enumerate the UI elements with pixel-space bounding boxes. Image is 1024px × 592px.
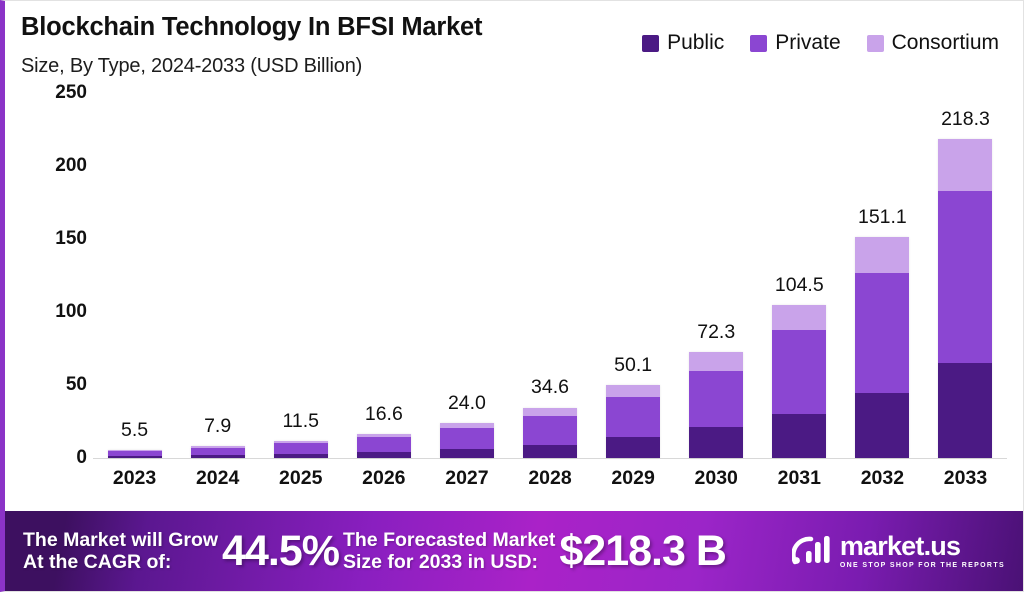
bar-segment-public[interactable] [523, 445, 577, 458]
bar-total-label: 5.5 [93, 419, 176, 442]
legend-label: Public [667, 31, 724, 55]
x-axis-tick: 2025 [259, 467, 342, 490]
bar-column[interactable]: 151.1 [841, 93, 924, 458]
bar-total-label: 50.1 [592, 354, 675, 377]
bar-column[interactable]: 24.0 [425, 93, 508, 458]
x-axis-tick: 2031 [758, 467, 841, 490]
bar-column[interactable]: 218.3 [924, 93, 1007, 458]
bar-segment-private[interactable] [689, 371, 743, 428]
bar-total-label: 11.5 [259, 410, 342, 433]
bar-series-row: 5.57.911.516.624.034.650.172.3104.5151.1… [93, 93, 1007, 458]
bar-segment-public[interactable] [357, 452, 411, 458]
bar-segment-private[interactable] [274, 443, 328, 454]
bar-total-label: 24.0 [425, 392, 508, 415]
market-us-logo-icon [792, 532, 832, 571]
bar-segment-public[interactable] [938, 363, 992, 458]
chart-plot-area: 050100150200250 5.57.911.516.624.034.650… [5, 93, 1023, 513]
x-axis-tick: 2029 [592, 467, 675, 490]
page-title: Blockchain Technology In BFSI Market [21, 13, 482, 42]
x-axis-tick: 2033 [924, 467, 1007, 490]
legend-swatch-icon [750, 35, 767, 52]
bar-segment-private[interactable] [191, 448, 245, 455]
legend-label: Private [775, 31, 840, 55]
legend-label: Consortium [892, 31, 999, 55]
x-axis-tick: 2030 [675, 467, 758, 490]
bar-segment-public[interactable] [440, 449, 494, 458]
logo-tagline: ONE STOP SHOP FOR THE REPORTS [840, 562, 1005, 569]
bar-segment-public[interactable] [191, 455, 245, 458]
bar-stack[interactable] [440, 423, 494, 458]
bar-segment-consortium[interactable] [772, 305, 826, 330]
axis-baseline [93, 458, 1007, 459]
bar-column[interactable]: 5.5 [93, 93, 176, 458]
infographic-root: Blockchain Technology In BFSI Market Siz… [0, 0, 1024, 592]
y-axis: 050100150200250 [23, 93, 87, 458]
logo-name: market.us [840, 533, 1005, 560]
bar-total-label: 72.3 [675, 321, 758, 344]
market-us-logo-text: market.us ONE STOP SHOP FOR THE REPORTS [840, 533, 1005, 569]
legend-item-public: Public [642, 31, 724, 55]
bar-stack[interactable] [938, 139, 992, 458]
x-axis-tick: 2032 [841, 467, 924, 490]
bar-stack[interactable] [855, 237, 909, 458]
legend-swatch-icon [642, 35, 659, 52]
chart-legend: Public Private Consortium [642, 31, 999, 55]
bar-total-label: 34.6 [508, 376, 591, 399]
forecast-caption: The Forecasted Market Size for 2033 in U… [343, 529, 555, 574]
x-axis-tick: 2023 [93, 467, 176, 490]
bar-stack[interactable] [772, 305, 826, 458]
bar-stack[interactable] [523, 408, 577, 458]
y-axis-tick: 250 [55, 82, 87, 104]
y-axis-tick: 50 [66, 374, 87, 396]
bar-column[interactable]: 34.6 [508, 93, 591, 458]
bar-segment-private[interactable] [772, 330, 826, 414]
bar-stack[interactable] [191, 446, 245, 458]
bar-stack[interactable] [689, 352, 743, 458]
bar-segment-consortium[interactable] [855, 237, 909, 272]
bar-column[interactable]: 72.3 [675, 93, 758, 458]
y-axis-tick: 100 [55, 301, 87, 323]
bar-segment-private[interactable] [606, 397, 660, 437]
bar-segment-consortium[interactable] [938, 139, 992, 191]
cagr-caption-line1: The Market will Grow [23, 529, 218, 551]
cagr-caption: The Market will Grow At the CAGR of: [23, 529, 218, 574]
legend-swatch-icon [867, 35, 884, 52]
page-subtitle: Size, By Type, 2024-2033 (USD Billion) [21, 55, 362, 78]
legend-item-consortium: Consortium [867, 31, 999, 55]
y-axis-tick: 150 [55, 228, 87, 250]
bar-column[interactable]: 16.6 [342, 93, 425, 458]
y-axis-tick: 200 [55, 155, 87, 177]
forecast-value: $218.3 B [555, 527, 730, 576]
x-axis-tick: 2028 [508, 467, 591, 490]
bar-total-label: 7.9 [176, 415, 259, 438]
bar-total-label: 218.3 [924, 108, 1007, 131]
y-axis-tick: 0 [76, 447, 87, 469]
market-us-logo[interactable]: market.us ONE STOP SHOP FOR THE REPORTS [792, 532, 1005, 571]
bar-segment-private[interactable] [855, 273, 909, 393]
bar-total-label: 16.6 [342, 403, 425, 426]
bar-total-label: 151.1 [841, 206, 924, 229]
cagr-caption-line2: At the CAGR of: [23, 551, 218, 573]
bar-column[interactable]: 104.5 [758, 93, 841, 458]
bar-segment-private[interactable] [440, 428, 494, 449]
forecast-caption-line1: The Forecasted Market [343, 529, 555, 551]
chart-header: Blockchain Technology In BFSI Market Siz… [5, 1, 1023, 93]
bar-stack[interactable] [357, 434, 411, 458]
footer-banner: The Market will Grow At the CAGR of: 44.… [5, 511, 1023, 591]
bar-column[interactable]: 50.1 [592, 93, 675, 458]
bar-segment-public[interactable] [689, 427, 743, 458]
x-axis-tick: 2024 [176, 467, 259, 490]
x-axis: 2023202420252026202720282029203020312032… [93, 467, 1007, 490]
bar-total-label: 104.5 [758, 274, 841, 297]
bar-segment-private[interactable] [523, 416, 577, 446]
bar-segment-private[interactable] [938, 191, 992, 363]
cagr-value: 44.5% [218, 527, 343, 576]
legend-item-private: Private [750, 31, 840, 55]
bar-stack[interactable] [606, 385, 660, 458]
forecast-caption-line2: Size for 2033 in USD: [343, 551, 555, 573]
x-axis-tick: 2026 [342, 467, 425, 490]
bars-area: 5.57.911.516.624.034.650.172.3104.5151.1… [93, 93, 1007, 513]
bar-stack[interactable] [274, 441, 328, 458]
bar-segment-public[interactable] [606, 437, 660, 458]
bar-segment-consortium[interactable] [523, 408, 577, 416]
bar-segment-public[interactable] [274, 454, 328, 458]
bar-segment-consortium[interactable] [606, 385, 660, 397]
bar-segment-consortium[interactable] [689, 352, 743, 370]
x-axis-tick: 2027 [425, 467, 508, 490]
bar-stack[interactable] [108, 450, 162, 459]
bar-segment-public[interactable] [855, 393, 909, 458]
bar-column[interactable]: 7.9 [176, 93, 259, 458]
bar-segment-public[interactable] [772, 414, 826, 458]
bar-segment-private[interactable] [357, 437, 411, 452]
bar-column[interactable]: 11.5 [259, 93, 342, 458]
bar-segment-public[interactable] [108, 456, 162, 458]
